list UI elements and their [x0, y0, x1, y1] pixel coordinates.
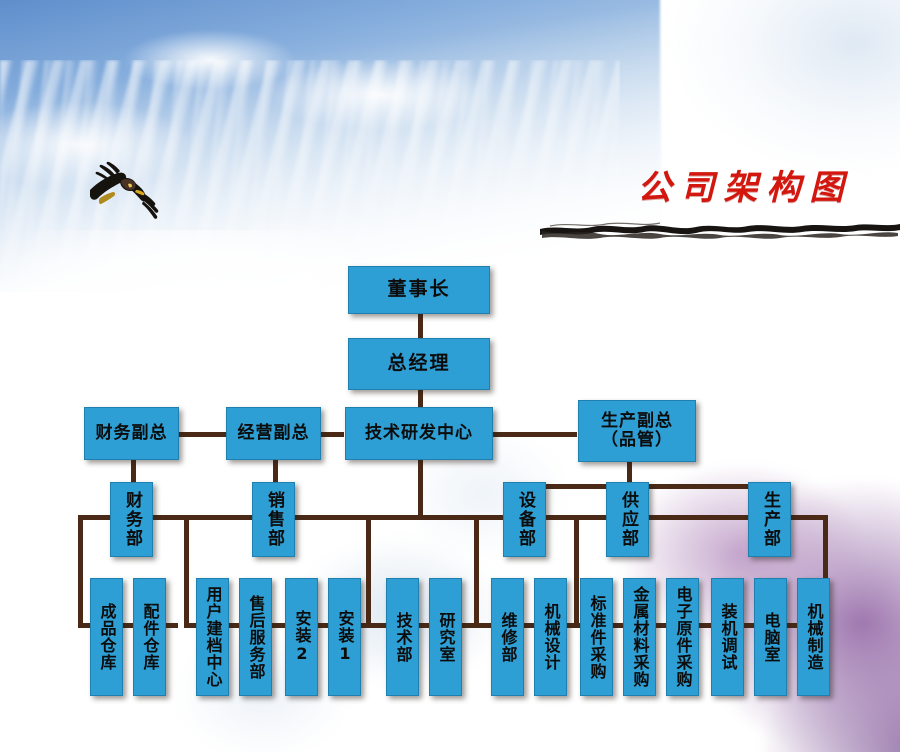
node-mechanical-design[interactable]: 机械设计 — [534, 578, 567, 696]
node-tech-dept[interactable]: 技术部 — [386, 578, 419, 696]
org-chart-canvas: 董事长 总经理 财务副总 经营副总 技术研发中心 生产副总 （品管） 财务部 销… — [0, 0, 900, 752]
connector-group-finance-drop — [78, 515, 83, 628]
node-general-manager[interactable]: 总经理 — [348, 338, 490, 390]
connector-chairman-gm — [418, 313, 423, 339]
node-purchasing-standard-parts[interactable]: 标准件采购 — [580, 578, 613, 696]
node-vp-production[interactable]: 生产副总 （品管） — [578, 400, 696, 462]
node-customer-filing-center[interactable]: 用户建档中心 — [196, 578, 229, 696]
connector-vpops-deptsales — [273, 460, 278, 482]
connector-rnd-bus — [418, 460, 423, 518]
connector-vpprod-down — [627, 462, 632, 484]
node-dept-finance[interactable]: 财务部 — [110, 482, 153, 557]
connector-main-bus — [78, 515, 828, 520]
connector-group-supply-drop — [574, 515, 579, 628]
node-dept-sales[interactable]: 销售部 — [252, 482, 295, 557]
org-chart-poster: 公司架构图 — [0, 0, 900, 752]
connector-vpfinance-deptfinance — [131, 460, 136, 482]
node-research-lab[interactable]: 研究室 — [429, 578, 462, 696]
node-wh-finished[interactable]: 成品仓库 — [90, 578, 123, 696]
connector-group-equipment-drop — [474, 515, 479, 628]
node-purchasing-electronic-components[interactable]: 电子原件采购 — [666, 578, 699, 696]
node-rnd-center[interactable]: 技术研发中心 — [345, 407, 493, 460]
node-wh-parts[interactable]: 配件仓库 — [133, 578, 166, 696]
node-mechanical-manufacturing[interactable]: 机械制造 — [797, 578, 830, 696]
node-assembly-debugging[interactable]: 装机调试 — [711, 578, 744, 696]
node-vp-finance[interactable]: 财务副总 — [84, 407, 179, 460]
node-vp-production-line2: （品管） — [601, 431, 673, 450]
connector-gm-rnd — [418, 389, 423, 408]
node-purchasing-metal-materials[interactable]: 金属材料采购 — [623, 578, 656, 696]
node-dept-supply[interactable]: 供应部 — [606, 482, 649, 557]
connector-level3-right-spine — [492, 432, 577, 437]
node-vp-production-line1: 生产副总 — [601, 412, 673, 431]
node-chairman[interactable]: 董事长 — [348, 266, 490, 314]
connector-group-rnd-drop — [366, 515, 371, 628]
node-install-1[interactable]: 安装1 — [328, 578, 361, 696]
node-install-2[interactable]: 安装2 — [285, 578, 318, 696]
node-maintenance-dept[interactable]: 维修部 — [491, 578, 524, 696]
connector-group-sales-drop — [184, 515, 189, 628]
node-vp-operations[interactable]: 经营副总 — [226, 407, 321, 460]
node-after-sales-service[interactable]: 售后服务部 — [239, 578, 272, 696]
node-computer-room[interactable]: 电脑室 — [754, 578, 787, 696]
node-dept-equipment[interactable]: 设备部 — [503, 482, 546, 557]
node-dept-production[interactable]: 生产部 — [748, 482, 791, 557]
